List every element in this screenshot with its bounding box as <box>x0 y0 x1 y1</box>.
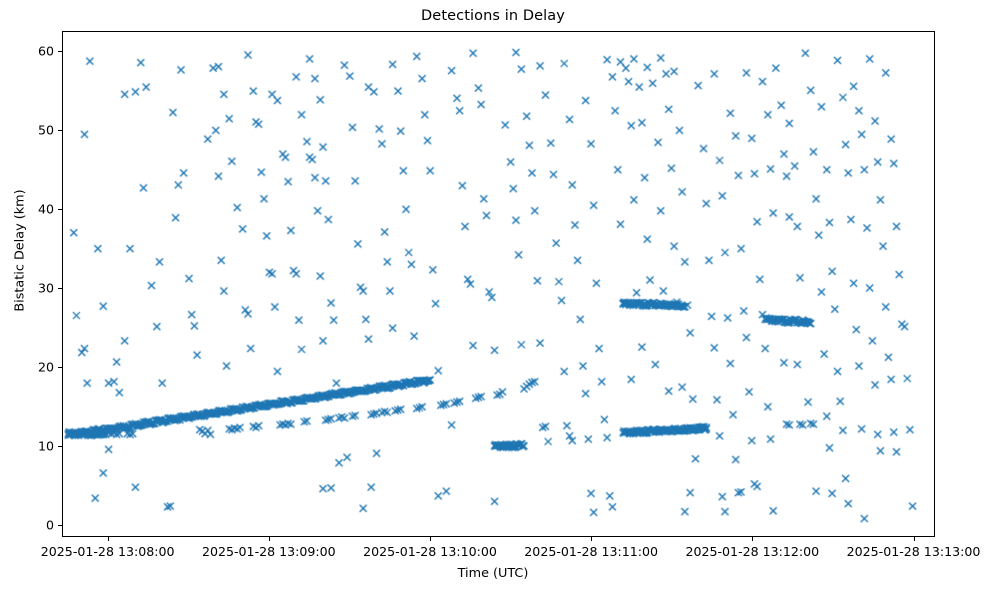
x-tick-mark <box>430 537 431 541</box>
y-tick-mark <box>58 525 62 526</box>
y-tick-label: 60 <box>38 43 54 58</box>
y-tick-label: 0 <box>46 518 54 533</box>
scatter-plot-canvas <box>63 32 934 536</box>
y-tick-label: 20 <box>38 360 54 375</box>
y-tick-mark <box>58 130 62 131</box>
x-tick-label: 2025-01-28 13:08:00 <box>41 544 175 559</box>
y-tick-mark <box>58 446 62 447</box>
y-tick-label: 40 <box>38 201 54 216</box>
x-tick-label: 2025-01-28 13:13:00 <box>847 544 981 559</box>
y-tick-mark <box>58 367 62 368</box>
x-tick-mark <box>108 537 109 541</box>
x-tick-label: 2025-01-28 13:10:00 <box>363 544 497 559</box>
y-tick-label: 10 <box>38 439 54 454</box>
x-tick-mark <box>269 537 270 541</box>
x-tick-mark <box>591 537 592 541</box>
x-tick-label: 2025-01-28 13:11:00 <box>524 544 658 559</box>
x-tick-label: 2025-01-28 13:12:00 <box>685 544 819 559</box>
x-tick-mark <box>914 537 915 541</box>
y-tick-mark <box>58 51 62 52</box>
y-axis-tick-labels: 0102030405060 <box>8 31 54 537</box>
x-tick-mark <box>752 537 753 541</box>
y-tick-label: 30 <box>38 280 54 295</box>
x-tick-label: 2025-01-28 13:09:00 <box>202 544 336 559</box>
y-tick-mark <box>58 288 62 289</box>
figure-canvas: Detections in Delay Bistatic Delay (km) … <box>0 0 986 590</box>
y-tick-label: 50 <box>38 122 54 137</box>
chart-title: Detections in Delay <box>0 8 986 24</box>
plot-axes <box>62 31 935 537</box>
y-tick-mark <box>58 209 62 210</box>
x-axis-label: Time (UTC) <box>0 566 986 581</box>
